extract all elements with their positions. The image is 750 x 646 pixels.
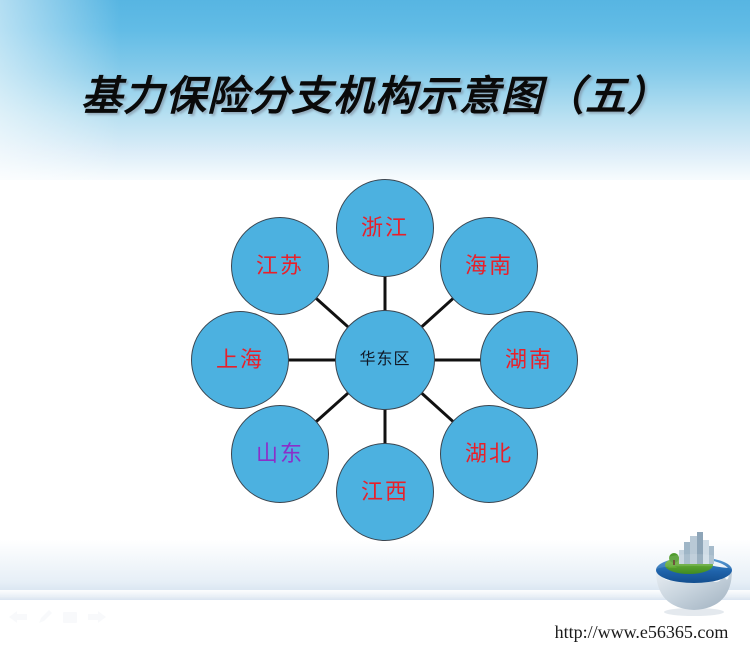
pen-icon[interactable] (37, 609, 53, 625)
org-diagram: 浙江海南湖南湖北江西山东上海江苏华东区 (180, 168, 590, 552)
next-arrow-icon[interactable] (87, 610, 107, 624)
diagram-center-node[interactable]: 华东区 (335, 310, 435, 410)
diagram-node-湖南[interactable]: 湖南 (480, 311, 578, 409)
spoke-line (316, 393, 349, 422)
diagram-node-海南[interactable]: 海南 (440, 217, 538, 315)
presentation-slide: 基力保险分支机构示意图（五） 浙江海南湖南湖北江西山东上海江苏华东区 (0, 0, 750, 646)
diagram-node-湖北[interactable]: 湖北 (440, 405, 538, 503)
spoke-line (316, 298, 349, 327)
diagram-node-山东[interactable]: 山东 (231, 405, 329, 503)
spoke-line (421, 298, 453, 327)
diagram-node-浙江[interactable]: 浙江 (336, 179, 434, 277)
spoke-line (421, 393, 453, 422)
diagram-node-上海[interactable]: 上海 (191, 311, 289, 409)
previous-arrow-icon[interactable] (8, 610, 28, 624)
slide-title: 基力保险分支机构示意图（五） (0, 62, 750, 122)
diagram-node-江苏[interactable]: 江苏 (231, 217, 329, 315)
watermark-url-bar: http://www.e56365.com (533, 619, 750, 646)
globe-city-logo (646, 524, 742, 620)
diagram-node-江西[interactable]: 江西 (336, 443, 434, 541)
slideshow-nav-controls[interactable] (8, 605, 118, 629)
horizon-glow (0, 590, 750, 604)
slide-icon[interactable] (62, 611, 78, 624)
watermark-url: http://www.e56365.com (555, 622, 729, 643)
